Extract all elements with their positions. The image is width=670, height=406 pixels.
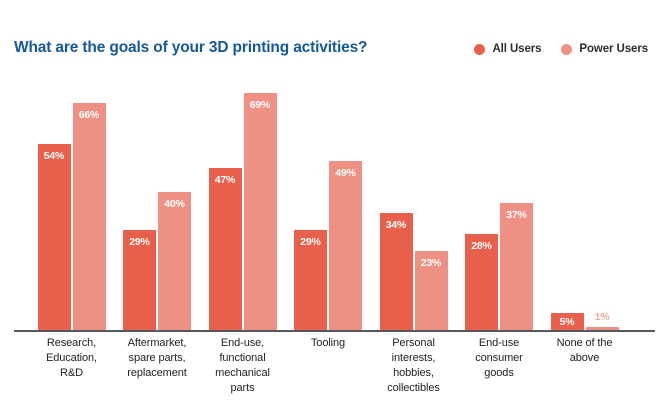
x-axis-label: End-use,functionalmechanicalparts	[198, 336, 288, 396]
legend-dot-icon	[561, 44, 572, 55]
x-axis-label: Tooling	[283, 336, 373, 351]
page-title: What are the goals of your 3D printing a…	[14, 39, 367, 57]
bar-value-label: 47%	[209, 175, 242, 186]
bar-value-label: 40%	[158, 199, 191, 210]
legend-dot-icon	[474, 44, 485, 55]
x-axis-label-line: End-use,	[198, 336, 288, 351]
bar[interactable]: 37%	[500, 203, 533, 330]
x-axis-label-line: hobbies,	[369, 366, 459, 381]
x-axis-label: Personalinterests,hobbies,collectibles	[369, 336, 459, 396]
x-axis-label-line: consumer	[454, 351, 544, 366]
x-axis-label-line: R&D	[27, 366, 117, 381]
x-axis-label-line: replacement	[112, 366, 202, 381]
x-axis-label-line: collectibles	[369, 381, 459, 396]
x-axis-label: Aftermarket,spare parts,replacement	[112, 336, 202, 381]
x-axis-label-line: parts	[198, 381, 288, 396]
bar-value-label: 54%	[38, 151, 71, 162]
bar[interactable]: 66%	[73, 103, 106, 330]
bar[interactable]: 29%	[294, 230, 327, 330]
x-axis-label-line: spare parts,	[112, 351, 202, 366]
bar-value-label: 69%	[244, 100, 277, 111]
bar-group: 47%69%	[209, 72, 277, 330]
legend-label-power-users: Power Users	[579, 43, 648, 55]
bar-value-label: 1%	[586, 312, 619, 323]
bar-group: 29%40%	[123, 72, 191, 330]
legend-item-power-users: Power Users	[561, 43, 648, 55]
bar[interactable]: 54%	[38, 144, 71, 330]
bar[interactable]: 28%	[465, 234, 498, 330]
bar-value-label: 34%	[380, 220, 413, 231]
x-axis-label-line: Personal	[369, 336, 459, 351]
x-axis-label-line: Education,	[27, 351, 117, 366]
bar-value-label: 66%	[73, 110, 106, 121]
bar-group: 29%49%	[294, 72, 362, 330]
bar-value-label: 23%	[415, 258, 448, 269]
bar-group: 34%23%	[380, 72, 448, 330]
x-axis-label-line: Research,	[27, 336, 117, 351]
x-axis-labels: Research,Education,R&DAftermarket,spare …	[0, 336, 670, 406]
bar-group: 54%66%	[38, 72, 106, 330]
bar[interactable]: 40%	[158, 192, 191, 330]
x-axis-label-line: Aftermarket,	[112, 336, 202, 351]
x-axis-label-line: mechanical	[198, 366, 288, 381]
x-axis-label: End-useconsumergoods	[454, 336, 544, 381]
x-axis-baseline	[14, 330, 655, 332]
bar[interactable]: 49%	[329, 161, 362, 330]
bar[interactable]: 34%	[380, 213, 413, 330]
bar-group: 28%37%	[465, 72, 533, 330]
bar[interactable]: 29%	[123, 230, 156, 330]
bar-group: 5%1%	[551, 72, 619, 330]
bar[interactable]: 23%	[415, 251, 448, 330]
plot-area: 54%66%29%40%47%69%29%49%34%23%28%37%5%1%	[0, 72, 670, 332]
x-axis-label: None of theabove	[540, 336, 630, 366]
bar-value-label: 5%	[551, 317, 584, 328]
x-axis-label-line: interests,	[369, 351, 459, 366]
bar[interactable]: 47%	[209, 168, 242, 330]
chart-container: What are the goals of your 3D printing a…	[0, 0, 670, 406]
bar-value-label: 29%	[294, 237, 327, 248]
bar[interactable]: 69%	[244, 93, 277, 330]
x-axis-label-line: None of the	[540, 336, 630, 351]
bar-value-label: 49%	[329, 168, 362, 179]
legend-label-all-users: All Users	[492, 43, 541, 55]
bar-value-label: 37%	[500, 210, 533, 221]
x-axis-label-line: goods	[454, 366, 544, 381]
x-axis-label-line: functional	[198, 351, 288, 366]
chart-header: What are the goals of your 3D printing a…	[0, 0, 670, 72]
x-axis-label-line: End-use	[454, 336, 544, 351]
legend-item-all-users: All Users	[474, 43, 541, 55]
x-axis-label-line: Tooling	[283, 336, 373, 351]
chart-legend: All Users Power Users	[474, 43, 648, 55]
bar-value-label: 29%	[123, 237, 156, 248]
x-axis-label: Research,Education,R&D	[27, 336, 117, 381]
x-axis-label-line: above	[540, 351, 630, 366]
bar-value-label: 28%	[465, 241, 498, 252]
bar[interactable]: 5%	[551, 313, 584, 330]
